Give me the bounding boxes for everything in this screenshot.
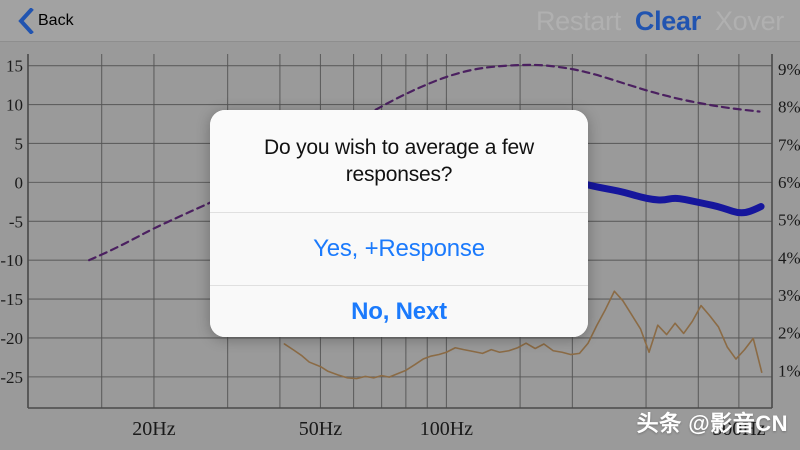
y2-axis-tick-label: 9% xyxy=(778,60,800,79)
y2-axis-tick-label: 5% xyxy=(778,211,800,230)
back-button[interactable]: Back xyxy=(18,2,74,40)
x-axis-tick-label: 100Hz xyxy=(420,418,473,440)
x-axis-tick-label: 50Hz xyxy=(299,418,342,440)
y-axis-tick-label: -10 xyxy=(0,251,23,270)
top-navigation-bar: Back Restart Clear Xover xyxy=(0,0,800,42)
y2-axis-tick-label: 1% xyxy=(778,361,800,380)
y-axis-tick-label: 5 xyxy=(15,134,24,153)
y2-axis-tick-label: 6% xyxy=(778,173,800,192)
y-axis-tick-label: -15 xyxy=(0,290,23,309)
y-axis-tick-label: -25 xyxy=(0,368,23,387)
navbar-actions: Restart Clear Xover xyxy=(536,2,784,40)
y2-axis-tick-label: 3% xyxy=(778,286,800,305)
dialog-yes-button[interactable]: Yes, +Response xyxy=(210,212,588,285)
dialog-no-button[interactable]: No, Next xyxy=(210,285,588,337)
y-axis-tick-label: 10 xyxy=(6,96,23,115)
y2-axis-tick-label: 2% xyxy=(778,324,800,343)
clear-button[interactable]: Clear xyxy=(635,6,701,36)
dialog-message: Do you wish to average a few responses? xyxy=(236,134,562,188)
y-axis-tick-label: 0 xyxy=(15,173,24,192)
dialog-no-label: No, Next xyxy=(351,298,447,326)
x-axis-tick-label: 20Hz xyxy=(132,418,175,440)
y-axis-tick-label: -20 xyxy=(0,329,23,348)
dialog-message-area: Do you wish to average a few responses? xyxy=(210,110,588,212)
y2-axis-tick-label: 4% xyxy=(778,248,800,267)
measurement-app-screen: Back Restart Clear Xover 151050-5-10-15-… xyxy=(0,0,800,450)
restart-button[interactable]: Restart xyxy=(536,6,621,36)
y2-axis-tick-label: 7% xyxy=(778,135,800,154)
xover-button[interactable]: Xover xyxy=(715,6,784,36)
dialog-yes-label: Yes, +Response xyxy=(313,235,485,263)
y2-axis-tick-label: 8% xyxy=(778,98,800,117)
back-button-label: Back xyxy=(38,12,74,30)
x-axis-tick-label: 500Hz xyxy=(712,418,765,440)
chevron-left-icon xyxy=(18,8,34,34)
y-axis-tick-label: -5 xyxy=(9,212,23,231)
average-responses-dialog: Do you wish to average a few responses? … xyxy=(210,110,588,337)
y-axis-tick-label: 15 xyxy=(6,57,23,76)
